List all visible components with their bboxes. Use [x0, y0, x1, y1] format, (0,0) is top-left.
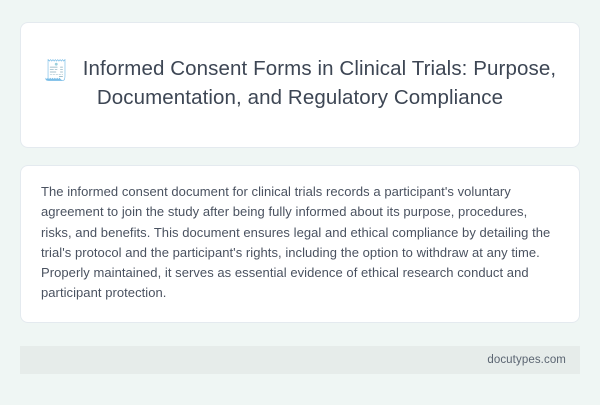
description-text: The informed consent document for clinic…: [41, 182, 559, 304]
title-card-inner: 🧾Informed Consent Forms in Clinical Tria…: [43, 54, 557, 112]
title-card: 🧾Informed Consent Forms in Clinical Tria…: [20, 22, 580, 148]
footer-bar: docutypes.com: [20, 346, 580, 374]
page-title: Informed Consent Forms in Clinical Trial…: [83, 57, 556, 109]
description-card: The informed consent document for clinic…: [20, 165, 580, 323]
footer-site-label: docutypes.com: [487, 354, 566, 366]
page-root: 🧾Informed Consent Forms in Clinical Tria…: [0, 0, 600, 405]
receipt-document-icon: 🧾: [44, 61, 69, 81]
